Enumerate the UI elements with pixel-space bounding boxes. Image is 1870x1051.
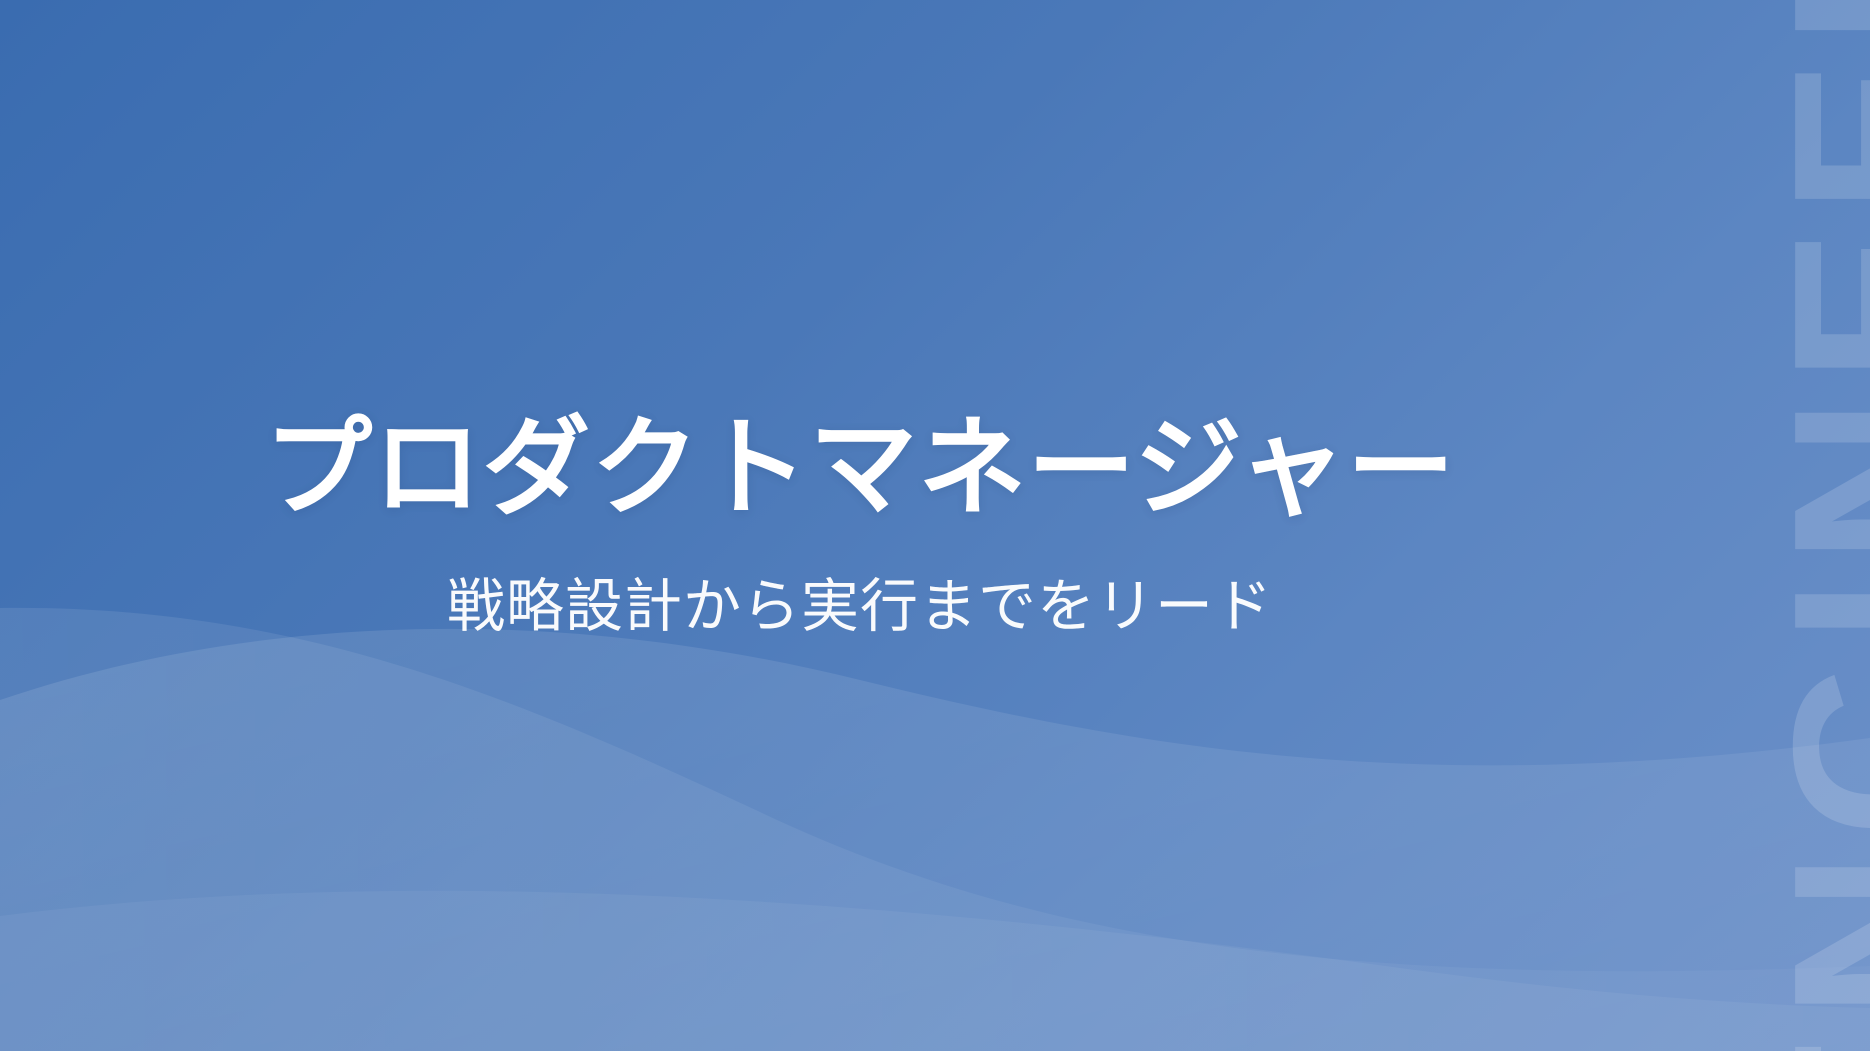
slide-subtitle: 戦略設計から実行までをリード [447, 571, 1273, 644]
slide-title: プロダクトマネージャー [264, 408, 1455, 529]
slide-canvas: ENGINEER プロダクトマネージャー 戦略設計から実行までをリード [0, 0, 1870, 1051]
slide-content: プロダクトマネージャー 戦略設計から実行までをリード [0, 0, 1870, 1051]
